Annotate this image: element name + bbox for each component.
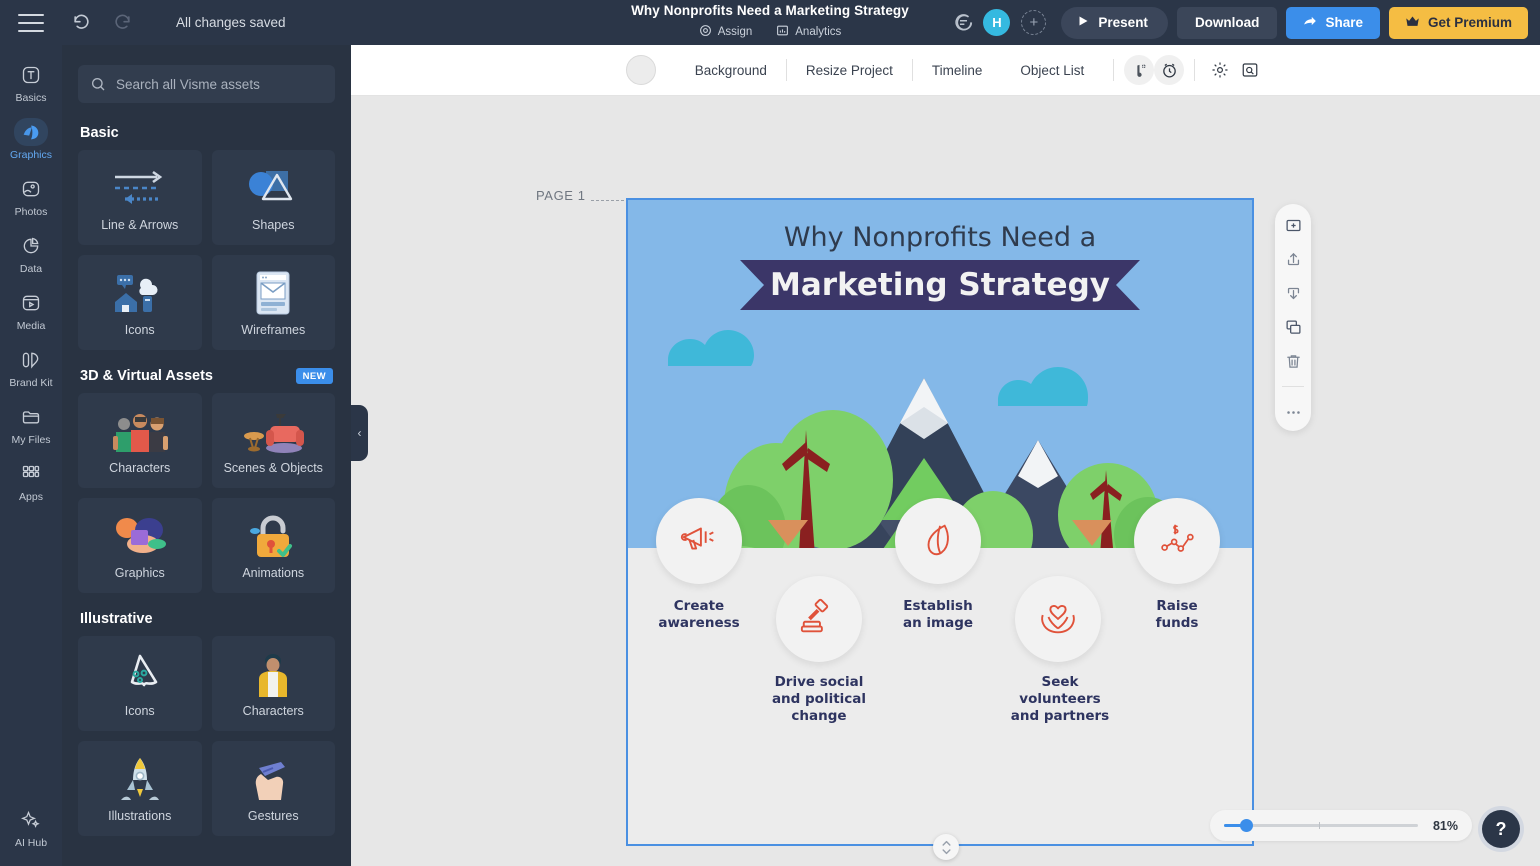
object-list-button[interactable]: Object List [1001,63,1103,78]
zoom-level: 81% [1428,819,1458,833]
premium-label: Get Premium [1428,15,1512,30]
upload-icon[interactable] [1282,248,1304,270]
undo-icon[interactable] [72,13,91,32]
zoom-slider-tick [1319,822,1320,829]
slide-item-drive-change-label: Drive socialand politicalchange [759,674,879,725]
present-label: Present [1098,15,1148,30]
3d-scenes-icon [240,407,306,455]
megaphone-icon [678,518,720,565]
slide-item-drive-change-bubble[interactable] [776,576,862,662]
section-title: Illustrative [80,611,153,627]
text-box-icon [14,61,48,89]
section-header-basic: Basic [80,125,333,141]
analytics-button[interactable]: Analytics [767,22,850,42]
sidebar-item-apps[interactable]: Apps [3,455,59,507]
illustrative-icons-icon [115,650,165,698]
dollar-growth-chart-icon [1157,519,1197,564]
sidebar-label: Media [17,320,46,332]
search-input[interactable] [116,77,323,92]
canvas-area[interactable]: PAGE 1 Why Nonprofits Need a Marketing S… [351,96,1540,866]
avatar[interactable]: H [983,9,1010,36]
toolbar-divider [1113,59,1114,81]
pie-chart-icon [14,232,48,260]
more-options-icon[interactable] [1282,401,1304,423]
hamburger-icon[interactable] [18,14,44,32]
assign-label: Assign [718,26,753,38]
asset-card-wireframes[interactable]: Wireframes [212,255,336,350]
zoom-slider[interactable] [1224,824,1418,827]
present-button[interactable]: Present [1061,7,1168,39]
new-badge: NEW [296,368,333,384]
object-toolbar [1275,204,1311,431]
section-title: 3D & Virtual Assets [80,368,213,384]
audio-note-icon[interactable] [1124,55,1154,85]
timeline-button[interactable]: Timeline [913,63,1002,78]
slide-item-raise-funds-bubble[interactable] [1134,498,1220,584]
background-button[interactable]: Background [676,63,786,78]
share-arrow-icon [1303,14,1317,31]
asset-card-label: Icons [125,323,155,337]
asset-card-label: Illustrations [108,809,171,823]
sidebar-item-my-files[interactable]: My Files [3,398,59,450]
search-box[interactable] [78,65,335,103]
vertical-resize-icon[interactable] [933,834,959,860]
asset-card-label: Shapes [252,218,294,232]
brand-kit-icon [14,346,48,374]
sidebar-item-brand-kit[interactable]: Brand Kit [3,341,59,393]
asset-card-illustrative-icons[interactable]: Icons [78,636,202,731]
shapes-icon [244,164,302,212]
sidebar-item-data[interactable]: Data [3,227,59,279]
page-label: PAGE 1 [536,188,586,203]
asset-card-illustrative-characters[interactable]: Characters [212,636,336,731]
collapse-panel-button[interactable]: ‹ [351,405,368,461]
asset-card-label: Animations [242,566,304,580]
asset-card-line-arrows[interactable]: Line & Arrows [78,150,202,245]
section-title: Basic [80,125,119,141]
slide-item-create-awareness-label: Createawareness [639,598,759,632]
graphics-icon [14,118,48,146]
asset-card-label: Line & Arrows [101,218,178,232]
asset-panel-scroll[interactable]: Basic Line & Arrows Shapes [62,107,351,866]
icons-house-icon [109,269,171,317]
comments-icon[interactable] [953,12,974,33]
asset-card-icons-basic[interactable]: Icons [78,255,202,350]
ribbon-text: Marketing Strategy [740,260,1140,310]
sidebar-item-photos[interactable]: Photos [3,170,59,222]
slide-heading-ribbon[interactable]: Marketing Strategy [740,260,1140,310]
add-frame-icon[interactable] [1282,214,1304,236]
lines-arrows-icon [109,164,171,212]
top-bar: All changes saved Why Nonprofits Need a … [0,0,1540,45]
toolbar-divider [1282,386,1304,387]
sidebar-item-media[interactable]: Media [3,284,59,336]
share-label: Share [1325,15,1363,30]
slide-item-raise-funds-label: Raisefunds [1117,598,1237,632]
media-player-icon [14,289,48,317]
save-status: All changes saved [176,15,286,30]
sidebar-label: Data [20,263,42,275]
sidebar-label: Basics [16,92,47,104]
assign-icon [699,24,712,40]
timer-icon[interactable] [1154,55,1184,85]
resize-project-button[interactable]: Resize Project [787,63,912,78]
rocket-icon [115,755,165,803]
trash-icon[interactable] [1282,350,1304,372]
asset-card-label: Wireframes [241,323,305,337]
asset-card-3d-characters[interactable]: Characters [78,393,202,488]
3d-graphics-icon [109,512,171,560]
assign-button[interactable]: Assign [690,22,762,42]
add-collaborator-icon[interactable]: + [1021,10,1046,35]
get-premium-button[interactable]: Get Premium [1389,7,1528,39]
zoom-control[interactable]: 81% [1210,810,1472,841]
sparkle-icon [14,806,48,834]
asset-card-3d-scenes[interactable]: Scenes & Objects [212,393,336,488]
folder-icon [14,403,48,431]
asset-card-label: Graphics [115,566,165,580]
asset-card-label: Icons [125,704,155,718]
hands-heart-icon [1037,597,1079,642]
asset-card-shapes[interactable]: Shapes [212,150,336,245]
slide-canvas[interactable]: Why Nonprofits Need a Marketing Strategy [628,200,1252,844]
3d-padlock-icon [245,512,301,560]
illustrative-character-icon [251,650,295,698]
sidebar-label: Photos [15,206,48,218]
download-icon[interactable] [1282,282,1304,304]
hand-gesture-icon [247,755,299,803]
preview-search-icon[interactable] [1235,55,1265,85]
page-connector [591,200,629,201]
help-button[interactable]: ? [1482,810,1520,848]
sidebar-label: AI Hub [15,837,47,849]
asset-card-3d-graphics[interactable]: Graphics [78,498,202,593]
sidebar-label: Apps [19,491,43,503]
slide-item-establish-image-label: Establishan image [878,598,998,632]
download-button[interactable]: Download [1177,7,1278,39]
wireframe-icon [250,269,296,317]
slide-item-seek-volunteers-label: Seekvolunteersand partners [990,674,1130,725]
slide-item-seek-volunteers-bubble[interactable] [1015,576,1101,662]
canvas-toolbar: Background Resize Project Timeline Objec… [351,45,1540,96]
apps-grid-icon [14,460,48,488]
gavel-icon [799,597,839,642]
sidebar-label: Graphics [10,149,52,161]
search-icon [90,76,106,92]
sidebar-item-ai-hub[interactable]: AI Hub [3,801,59,853]
play-icon [1077,15,1089,30]
asset-card-label: Gestures [248,809,299,823]
leaf-icon [919,520,957,563]
asset-card-gestures[interactable]: Gestures [212,741,336,836]
asset-panel: Basic Line & Arrows Shapes [62,45,351,866]
sidebar-item-basics[interactable]: Basics [3,56,59,108]
slide-lower-panel [628,548,1252,844]
analytics-icon [776,24,789,40]
slide-heading-line1[interactable]: Why Nonprofits Need a [628,222,1252,253]
photo-icon [14,175,48,203]
asset-card-label: Scenes & Objects [224,461,323,475]
left-rail: Basics Graphics Photos Data Media [0,45,62,866]
section-header-3d: 3D & Virtual Assets NEW [80,368,333,384]
crown-icon [1405,15,1420,31]
chevron-left-icon: ‹ [358,426,362,440]
slide-item-create-awareness-bubble[interactable] [656,498,742,584]
background-color-swatch[interactable] [626,55,656,85]
settings-gear-icon[interactable] [1205,55,1235,85]
share-button[interactable]: Share [1286,7,1380,39]
analytics-label: Analytics [795,26,841,38]
duplicate-icon[interactable] [1282,316,1304,338]
3d-characters-icon [107,407,173,455]
sidebar-item-graphics[interactable]: Graphics [3,113,59,165]
toolbar-divider [1194,59,1195,81]
redo-icon[interactable] [113,13,132,32]
asset-card-label: Characters [243,704,304,718]
asset-card-label: Characters [109,461,170,475]
sidebar-label: My Files [11,434,50,446]
asset-card-animations[interactable]: Animations [212,498,336,593]
sidebar-label: Brand Kit [9,377,52,389]
asset-card-illustrations[interactable]: Illustrations [78,741,202,836]
section-header-illustrative: Illustrative [80,611,333,627]
zoom-slider-knob[interactable] [1240,819,1253,832]
slide-item-establish-image-bubble[interactable] [895,498,981,584]
